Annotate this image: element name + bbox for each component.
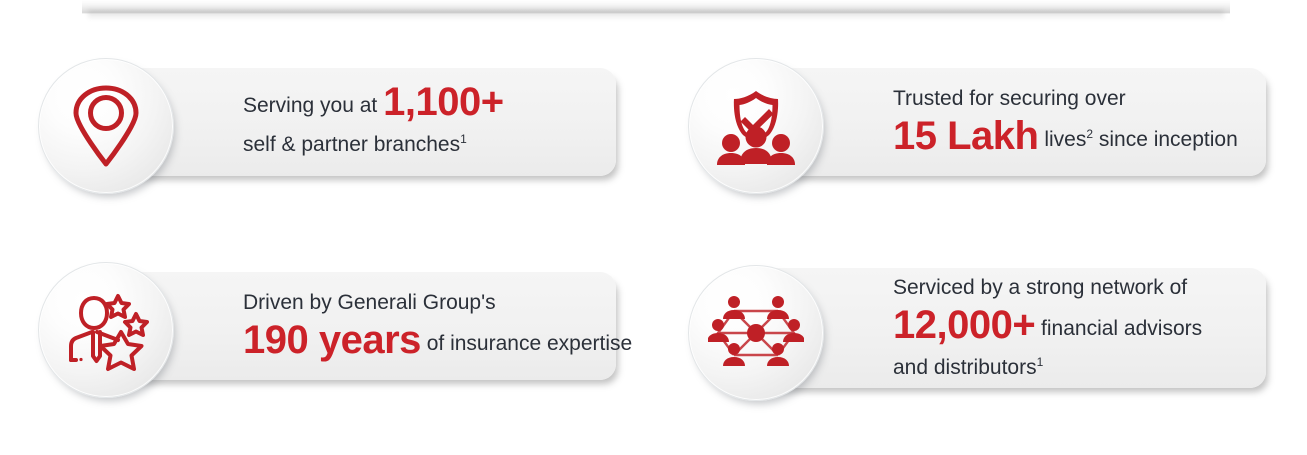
- shield-people-icon: [688, 58, 824, 194]
- stat-line-1: Trusted for securing over: [893, 82, 1238, 116]
- stat-card-text: Driven by Generali Group's 190 years of …: [243, 272, 632, 380]
- stat-prefix: Serving you at: [243, 94, 383, 117]
- stat-highlight: 15 Lakh: [893, 114, 1038, 158]
- stat-card-years: Driven by Generali Group's 190 years of …: [38, 262, 616, 380]
- stat-suffix: of insurance expertise: [421, 332, 632, 355]
- stat-line-3: and distributors1: [893, 351, 1202, 385]
- top-edge-shadow-band: [82, 0, 1230, 14]
- location-pin-icon: [38, 58, 174, 194]
- stat-line-2: 15 Lakh lives2 since inception: [893, 116, 1238, 162]
- people-network-icon: [688, 265, 824, 401]
- stat-line-2: 12,000+ financial advisors: [893, 305, 1202, 351]
- stat-prefix: Trusted for securing over: [893, 87, 1126, 110]
- stat-suffix: lives: [1044, 128, 1086, 151]
- stat-line-2: self & partner branches1: [243, 128, 504, 162]
- stat-suffix-tail: and distributors: [893, 356, 1037, 379]
- stat-line-1: Serviced by a strong network of: [893, 271, 1202, 305]
- stat-card-text: Serving you at 1,100+ self & partner bra…: [243, 68, 504, 176]
- person-stars-icon: [38, 262, 174, 398]
- stat-card-advisors: Serviced by a strong network of 12,000+ …: [688, 262, 1266, 380]
- stat-highlight: 190 years: [243, 318, 421, 362]
- footnote-marker: 1: [1037, 355, 1044, 369]
- stat-suffix-tail: since inception: [1093, 128, 1238, 151]
- stat-prefix: Serviced by a strong network of: [893, 276, 1187, 299]
- stat-suffix: financial advisors: [1035, 317, 1202, 340]
- stat-card-text: Serviced by a strong network of 12,000+ …: [893, 268, 1202, 388]
- stat-card-text: Trusted for securing over 15 Lakh lives2…: [893, 68, 1238, 176]
- stat-card-lives: Trusted for securing over 15 Lakh lives2…: [688, 58, 1266, 176]
- footnote-marker: 2: [1086, 127, 1093, 141]
- stats-infographic: Serving you at 1,100+ self & partner bra…: [0, 0, 1307, 455]
- footnote-marker: 1: [460, 132, 467, 146]
- stat-prefix: Driven by Generali Group's: [243, 291, 496, 314]
- stat-highlight: 12,000+: [893, 303, 1035, 347]
- stat-line-2: 190 years of insurance expertise: [243, 320, 632, 366]
- stat-suffix: self & partner branches: [243, 133, 460, 156]
- stat-card-branches: Serving you at 1,100+ self & partner bra…: [38, 58, 616, 176]
- stat-line-1: Driven by Generali Group's: [243, 286, 632, 320]
- stat-highlight: 1,100+: [383, 80, 503, 124]
- stat-line-1: Serving you at 1,100+: [243, 82, 504, 128]
